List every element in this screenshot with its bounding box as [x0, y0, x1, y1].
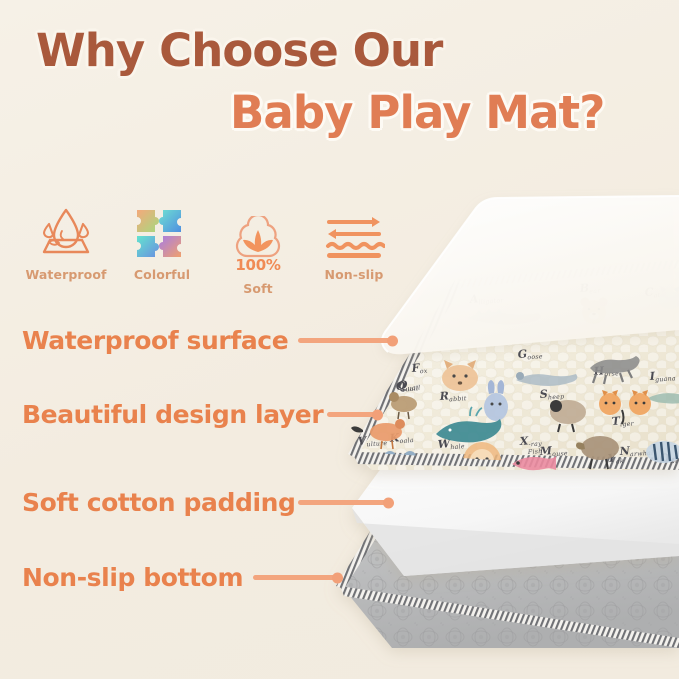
infographic-canvas: Alligator Bear: [0, 0, 679, 679]
badge-non-slip: Non-slip: [306, 200, 402, 296]
headline-line-1: Why Choose Our: [0, 26, 679, 76]
leader-line: [298, 500, 390, 505]
headline-block: Why Choose Our Baby Play Mat?: [0, 26, 679, 139]
leader-line: [327, 412, 379, 417]
puzzle-pieces-icon: [133, 200, 191, 260]
leader-line: [253, 575, 339, 580]
callout-non-slip-bottom: Non-slip bottom: [22, 563, 339, 592]
badge-colorful: Colorful: [114, 200, 210, 296]
non-slip-arrows-icon: [323, 200, 385, 260]
water-droplet-icon: [36, 200, 96, 260]
callout-label: Beautiful design layer: [22, 400, 323, 429]
callout-beautiful-design-layer: Beautiful design layer: [22, 400, 379, 429]
headline-line-2: Baby Play Mat?: [0, 88, 679, 138]
badge-soft: 100% Soft: [210, 200, 306, 296]
leader-line: [298, 338, 394, 343]
badge-label-soft: Soft: [243, 281, 272, 296]
cotton-boll-icon: [229, 200, 287, 260]
callout-soft-cotton-padding: Soft cotton padding: [22, 488, 390, 517]
waterproof-top-layer: [382, 196, 679, 354]
badge-label-non-slip: Non-slip: [325, 267, 384, 282]
badge-label-waterproof: Waterproof: [25, 267, 106, 282]
badge-waterproof: Waterproof: [18, 200, 114, 296]
badge-label-colorful: Colorful: [134, 267, 190, 282]
callout-label: Waterproof surface: [22, 326, 288, 355]
badge-percent-100: 100%: [235, 256, 280, 274]
callout-label: Soft cotton padding: [22, 488, 296, 517]
callout-waterproof-surface: Waterproof surface: [22, 326, 394, 355]
svg-text:Fish: Fish: [527, 448, 543, 456]
feature-badge-row: Waterproof: [18, 200, 408, 296]
callout-label: Non-slip bottom: [22, 563, 243, 592]
